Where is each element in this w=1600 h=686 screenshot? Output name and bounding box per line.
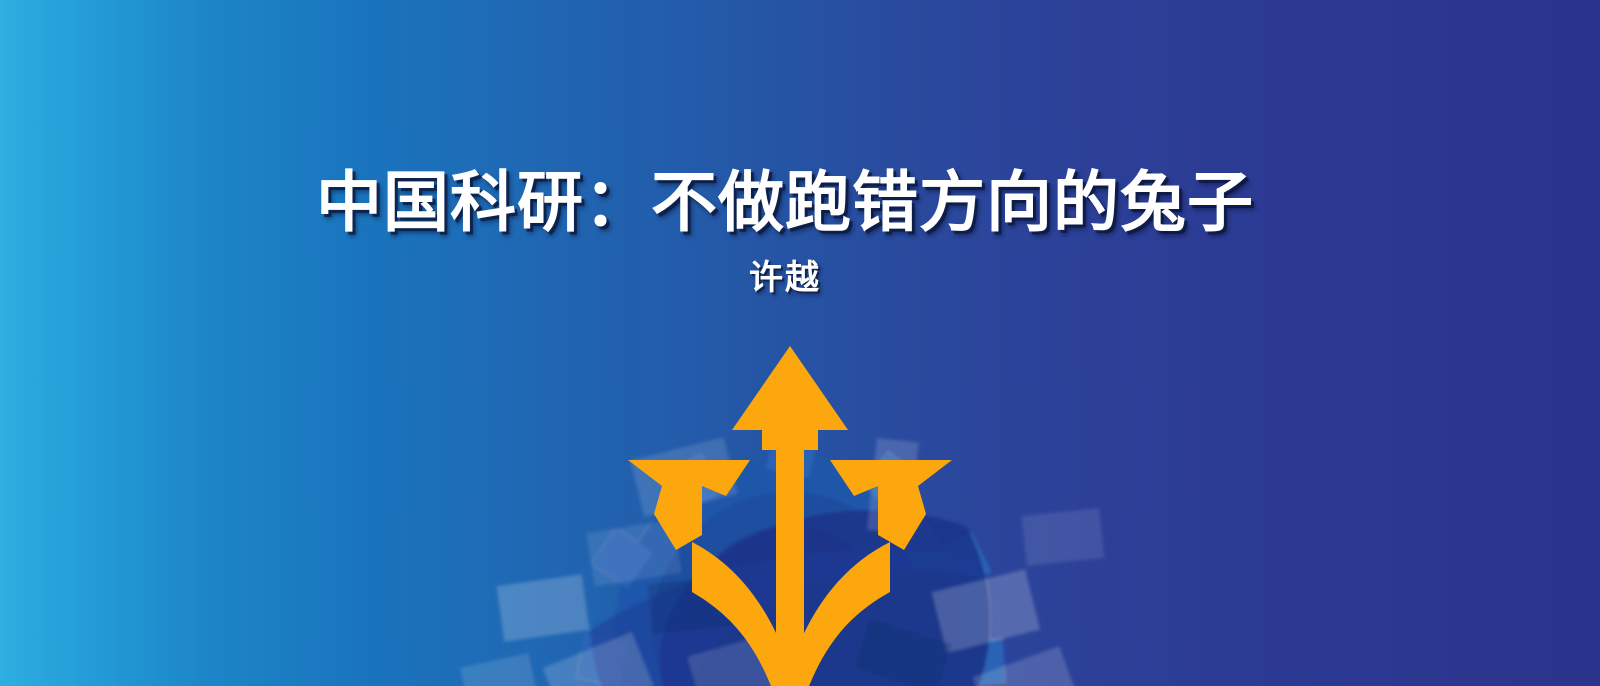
title-block: 中国科研：不做跑错方向的兔子 许越	[0, 168, 1570, 297]
presentation-title-slide: 中国科研：不做跑错方向的兔子 许越	[0, 0, 1600, 686]
author-subtitle: 许越	[0, 260, 1570, 297]
three-way-arrow-graphic	[440, 330, 1140, 686]
page-title: 中国科研：不做跑错方向的兔子	[0, 168, 1570, 238]
